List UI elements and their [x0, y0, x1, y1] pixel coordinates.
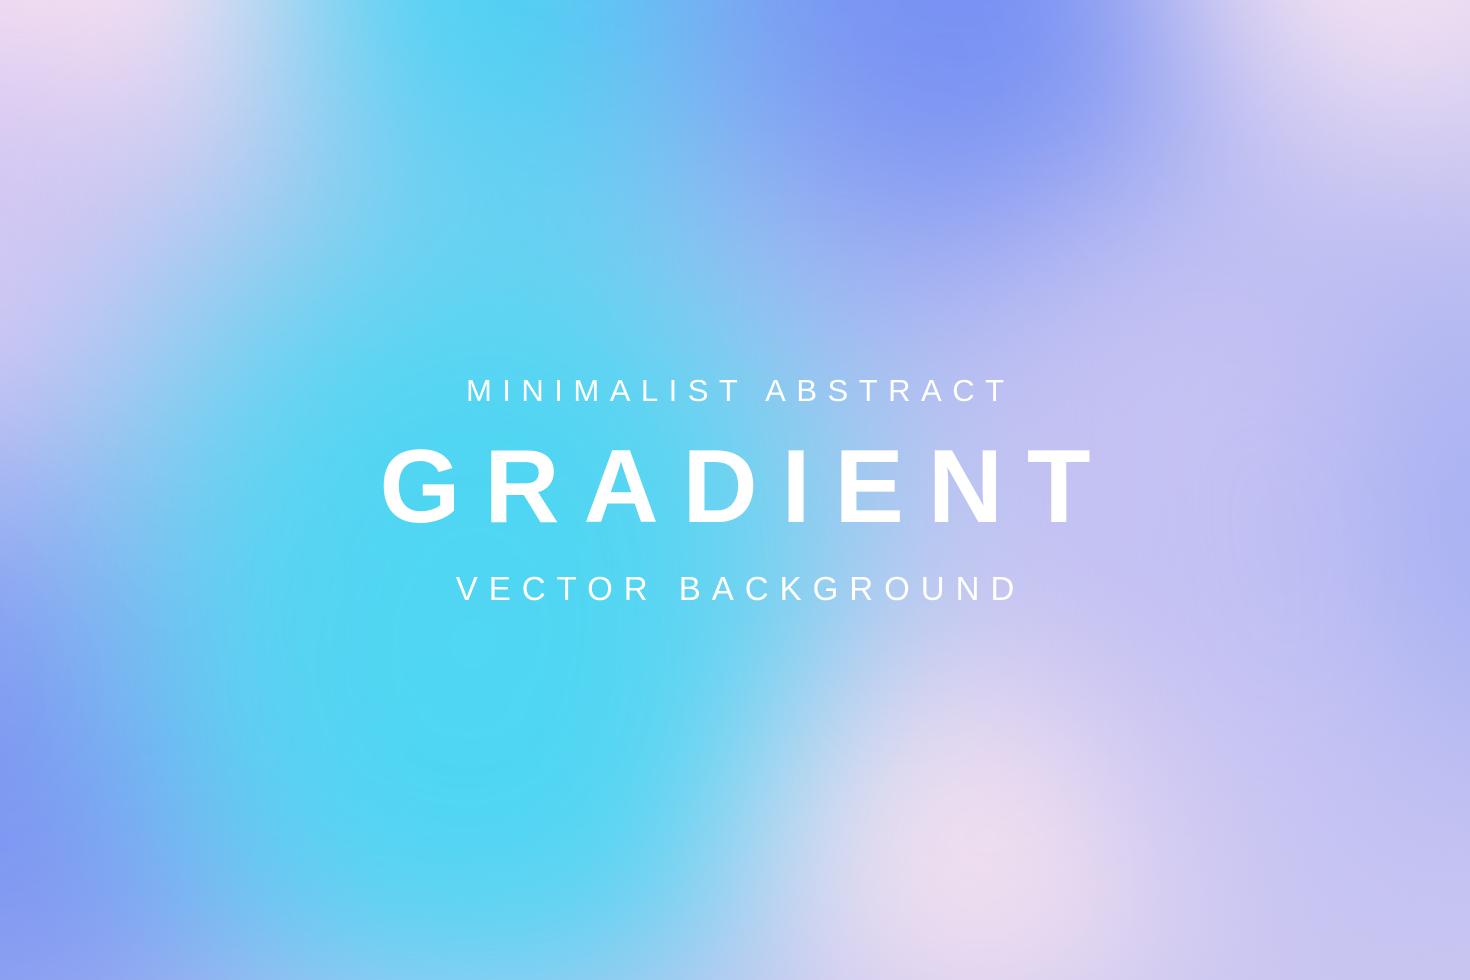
- headline-text: GRADIENT: [355, 448, 1114, 527]
- subline-text: VECTOR BACKGROUND: [445, 572, 1026, 605]
- gradient-poster-canvas: MINIMALIST ABSTRACT GRADIENT VECTOR BACK…: [0, 0, 1470, 980]
- poster-text-block: MINIMALIST ABSTRACT GRADIENT VECTOR BACK…: [0, 0, 1470, 980]
- eyebrow-text: MINIMALIST ABSTRACT: [455, 375, 1014, 406]
